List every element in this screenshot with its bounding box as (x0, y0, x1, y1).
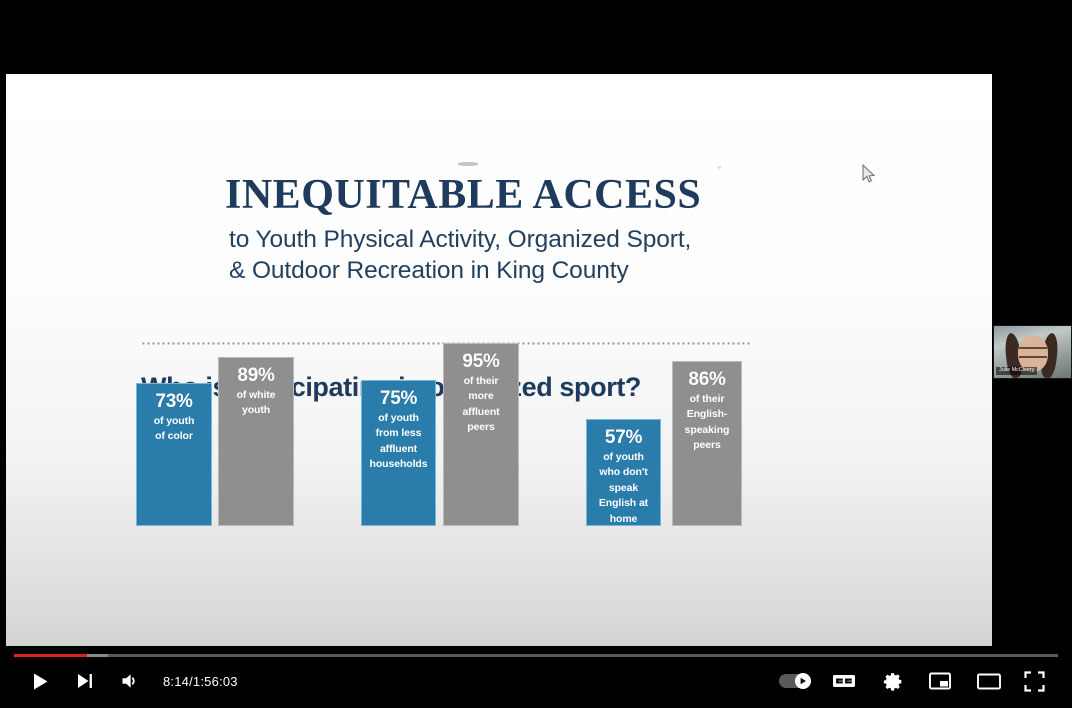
bar-label-line: of color (137, 428, 211, 443)
bar-57: 57%of youthwho don'tspeakEnglish athome (586, 419, 661, 526)
play-button[interactable] (22, 664, 58, 698)
bar-value: 75% (362, 388, 435, 410)
bar-86: 86%of theirEnglish-speakingpeers (672, 361, 742, 526)
bar-75: 75%of youthfrom lessaffluenthouseholds (361, 380, 436, 526)
time-current: 8:14 (163, 674, 189, 689)
closed-captions-icon (832, 672, 856, 690)
miniplayer-icon (929, 672, 951, 690)
bar-label-line: speaking (673, 422, 741, 437)
bar-value: 95% (444, 351, 518, 373)
bar-value: 57% (587, 427, 660, 449)
bar-89: 89%of whiteyouth (218, 357, 294, 526)
progress-bar-track[interactable] (14, 654, 1058, 657)
slide-subtitle-line-1: to Youth Physical Activity, Organized Sp… (229, 224, 789, 255)
autoplay-toggle-knob (795, 673, 811, 689)
slide-title: INEQUITABLE ACCESS (225, 174, 925, 216)
play-small-icon (799, 677, 807, 685)
gear-icon (883, 671, 904, 692)
bar-label-line: of their (444, 373, 518, 388)
bar-value: 73% (137, 391, 211, 413)
bar-label-line: of their (673, 391, 741, 406)
bar-label-line: of youth (587, 449, 660, 464)
fullscreen-button[interactable] (1017, 664, 1051, 698)
bar-value: 89% (219, 365, 293, 387)
slide-artifact-dot (718, 166, 721, 169)
theater-mode-icon (977, 673, 1001, 690)
bar-value: 86% (673, 369, 741, 391)
theater-mode-button[interactable] (971, 664, 1007, 698)
next-video-button[interactable] (68, 664, 102, 698)
bar-label-line: affluent (444, 404, 518, 419)
player-control-bar[interactable]: 8:14 / 1:56:03 (0, 646, 1072, 708)
bar-label-line: speak (587, 480, 660, 495)
volume-icon (121, 672, 141, 690)
webcam-glasses (1019, 347, 1047, 358)
time-total: 1:56:03 (193, 674, 238, 689)
video-viewport[interactable]: INEQUITABLE ACCESS to Youth Physical Act… (6, 74, 992, 646)
youtube-player[interactable]: INEQUITABLE ACCESS to Youth Physical Act… (0, 0, 1072, 708)
bar-label-line: peers (444, 419, 518, 434)
bar-label-line: of youth (362, 410, 435, 425)
captions-button[interactable] (827, 664, 861, 698)
miniplayer-button[interactable] (923, 664, 957, 698)
bar-95: 95%of theirmoreaffluentpeers (443, 343, 519, 526)
bar-label-line: youth (219, 402, 293, 417)
webcam-participant-name: Julie McCleery (996, 367, 1037, 375)
slide-subtitle: to Youth Physical Activity, Organized Sp… (229, 224, 789, 287)
bar-label-line: English at (587, 495, 660, 510)
bar-label-line: who don't (587, 464, 660, 479)
slide-subtitle-line-2: & Outdoor Recreation in King County (229, 255, 789, 286)
autoplay-toggle[interactable] (775, 664, 815, 698)
time-display: 8:14 / 1:56:03 (163, 664, 238, 698)
slide-artifact-top (458, 162, 478, 166)
fullscreen-icon (1024, 671, 1045, 692)
bar-label-line: English- (673, 406, 741, 421)
bar-label-line: more (444, 388, 518, 403)
webcam-overlay: Julie McCleery (993, 325, 1072, 379)
bar-label-line: affluent (362, 441, 435, 456)
volume-button[interactable] (114, 664, 148, 698)
bar-label-line: households (362, 456, 435, 471)
progress-bar-played (14, 654, 87, 657)
bar-73: 73%of youthof color (136, 383, 212, 526)
bar-label-line: peers (673, 437, 741, 452)
settings-button[interactable] (876, 664, 910, 698)
next-track-icon (76, 672, 94, 690)
bar-label-line: home (587, 511, 660, 526)
bar-label-line: from less (362, 425, 435, 440)
play-icon (31, 672, 50, 691)
bar-label-line: of youth (137, 413, 211, 428)
autoplay-toggle-track (779, 674, 811, 688)
bar-label-line: of white (219, 387, 293, 402)
